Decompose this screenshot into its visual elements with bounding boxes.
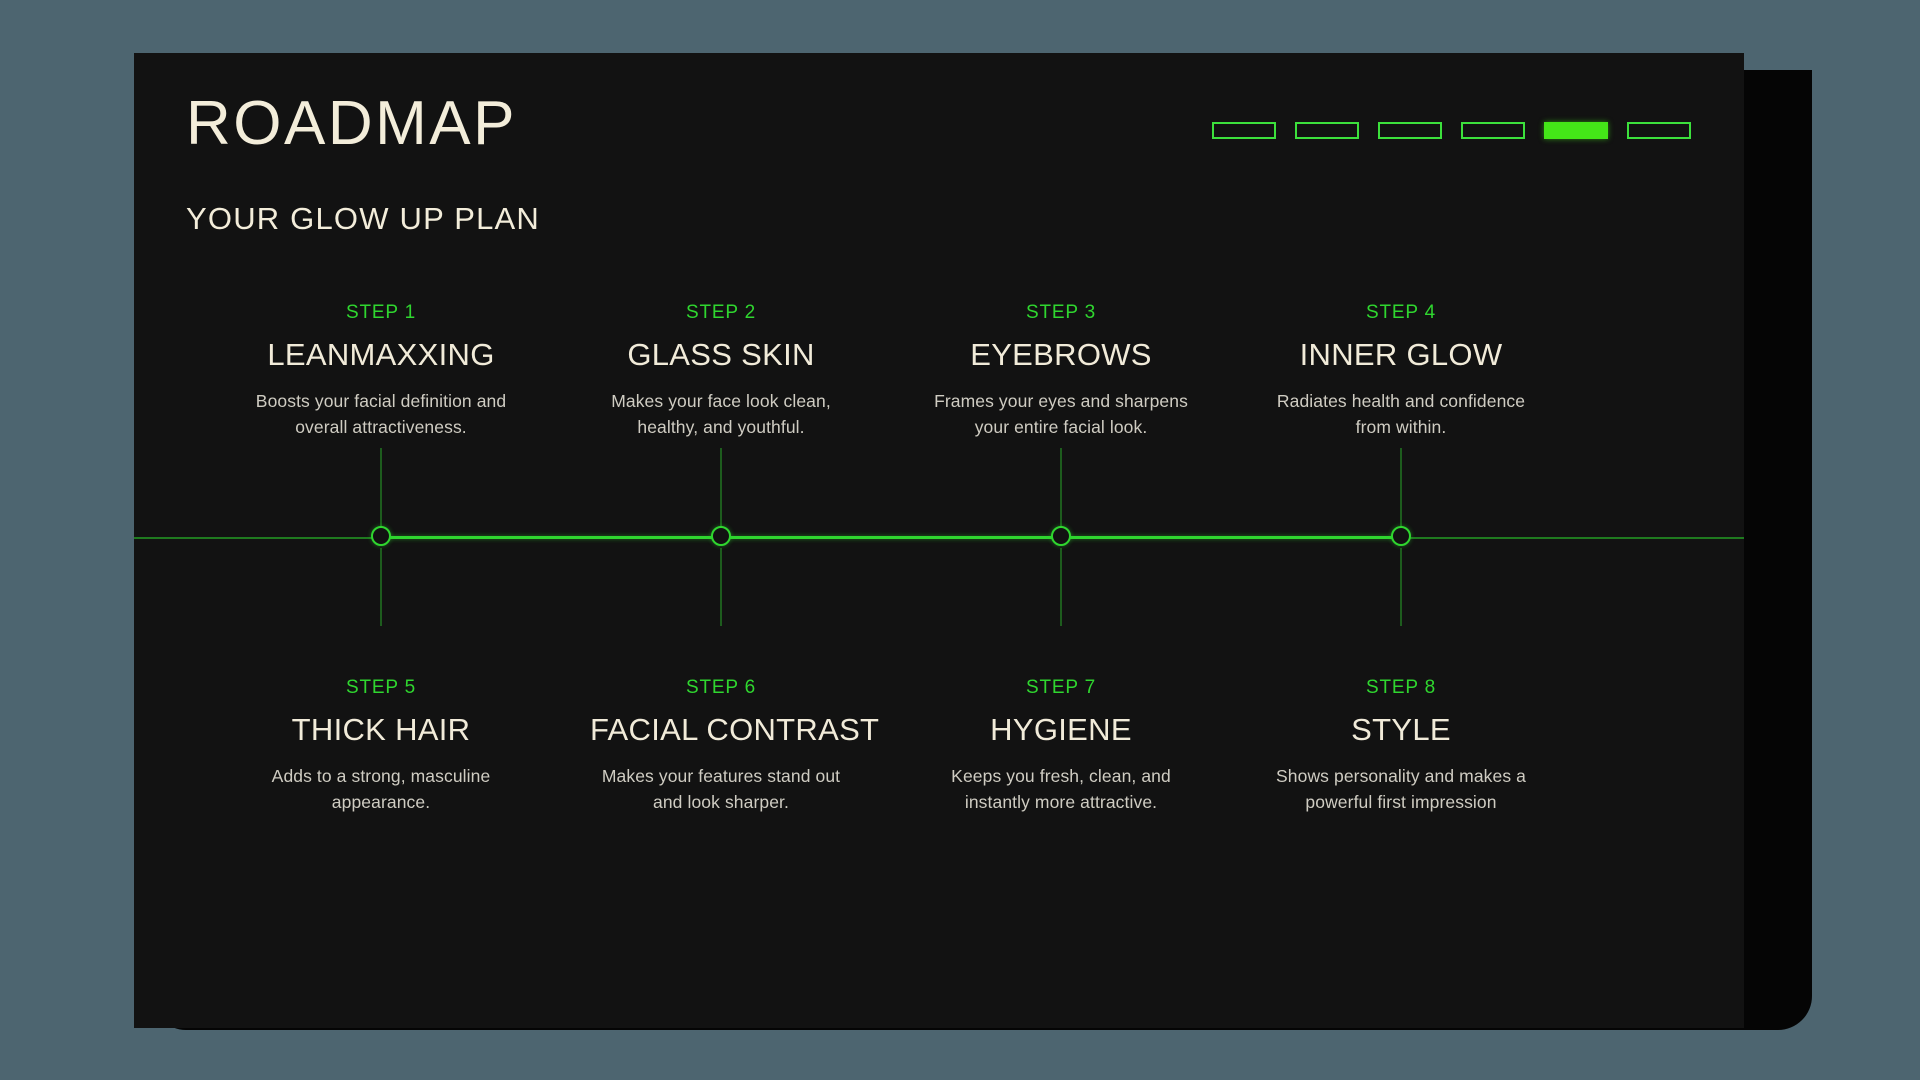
step-card-5[interactable]: STEP 5 THICK HAIR Adds to a strong, masc… <box>250 678 512 815</box>
step-number-label: STEP 8 <box>1270 678 1532 697</box>
roadmap-slide-card: ROADMAP YOUR GLOW UP PLAN <box>134 53 1744 1028</box>
step-description: Radiates health and confidence from with… <box>1270 389 1532 440</box>
step-number-label: STEP 3 <box>930 303 1192 322</box>
step-card-7[interactable]: STEP 7 HYGIENE Keeps you fresh, clean, a… <box>930 678 1192 815</box>
step-title-label: STYLE <box>1270 714 1532 745</box>
step-description: Shows personality and makes a powerful f… <box>1270 764 1532 815</box>
step-description: Frames your eyes and sharpens your entir… <box>930 389 1192 440</box>
steps-container: STEP 1 LEANMAXXING Boosts your facial de… <box>134 53 1744 1028</box>
step-title-label: FACIAL CONTRAST <box>590 714 852 745</box>
step-card-1[interactable]: STEP 1 LEANMAXXING Boosts your facial de… <box>250 303 512 440</box>
step-number-label: STEP 7 <box>930 678 1192 697</box>
step-number-label: STEP 6 <box>590 678 852 697</box>
step-description: Boosts your facial definition and overal… <box>250 389 512 440</box>
step-card-8[interactable]: STEP 8 STYLE Shows personality and makes… <box>1270 678 1532 815</box>
step-description: Adds to a strong, masculine appearance. <box>250 764 512 815</box>
step-card-3[interactable]: STEP 3 EYEBROWS Frames your eyes and sha… <box>930 303 1192 440</box>
step-description: Makes your face look clean, healthy, and… <box>590 389 852 440</box>
step-card-2[interactable]: STEP 2 GLASS SKIN Makes your face look c… <box>590 303 852 440</box>
slide-stage: ROADMAP YOUR GLOW UP PLAN <box>0 0 1920 1080</box>
step-number-label: STEP 1 <box>250 303 512 322</box>
step-title-label: THICK HAIR <box>250 714 512 745</box>
step-title-label: LEANMAXXING <box>250 339 512 370</box>
step-title-label: HYGIENE <box>930 714 1192 745</box>
step-card-6[interactable]: STEP 6 FACIAL CONTRAST Makes your featur… <box>590 678 852 815</box>
step-description: Makes your features stand out and look s… <box>590 764 852 815</box>
step-number-label: STEP 5 <box>250 678 512 697</box>
step-number-label: STEP 2 <box>590 303 852 322</box>
step-card-4[interactable]: STEP 4 INNER GLOW Radiates health and co… <box>1270 303 1532 440</box>
step-title-label: EYEBROWS <box>930 339 1192 370</box>
step-description: Keeps you fresh, clean, and instantly mo… <box>930 764 1192 815</box>
step-title-label: INNER GLOW <box>1270 339 1532 370</box>
step-number-label: STEP 4 <box>1270 303 1532 322</box>
step-title-label: GLASS SKIN <box>590 339 852 370</box>
